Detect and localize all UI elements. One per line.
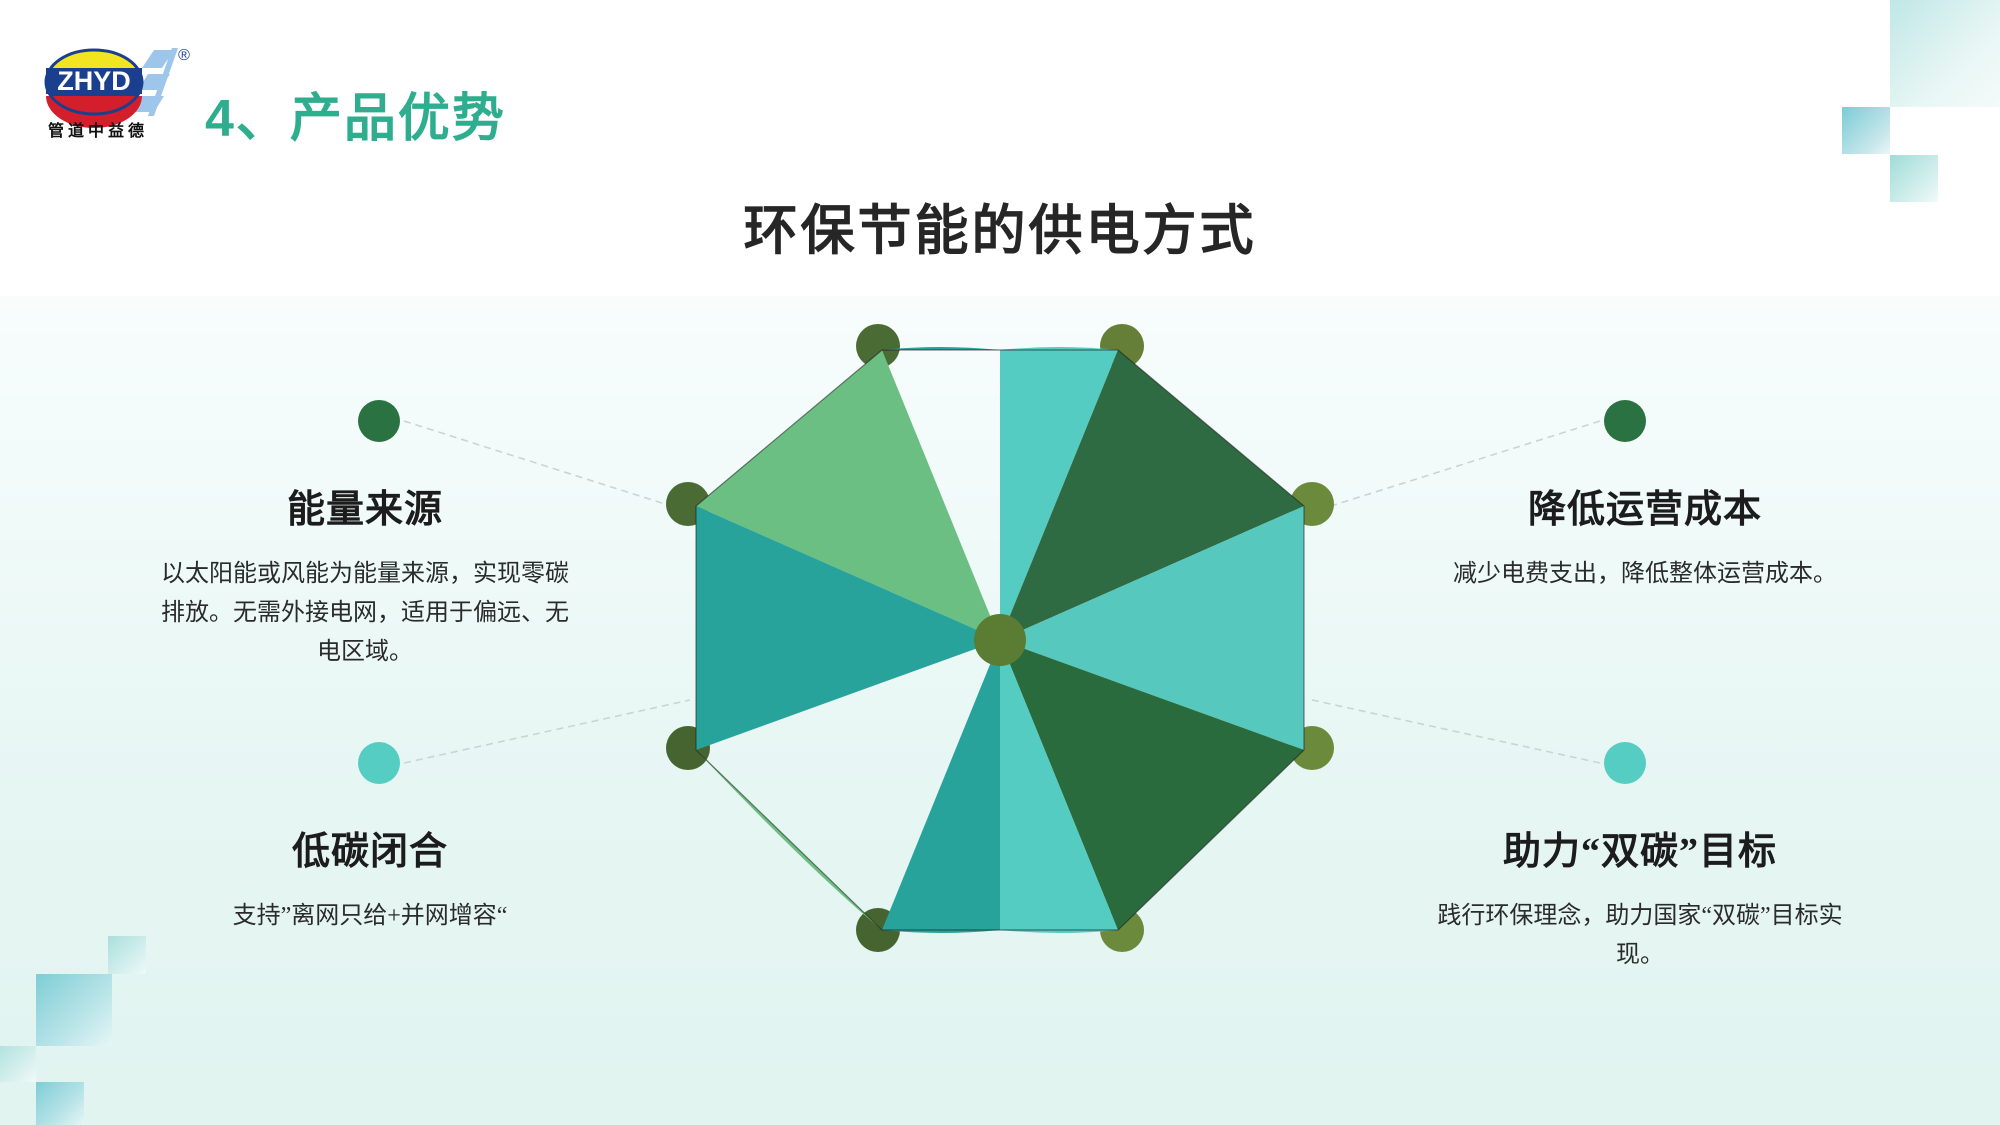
connector-dot-low-carbon[interactable] — [358, 742, 400, 784]
feature-body-reduce-cost: 减少电费支出，降低整体运营成本。 — [1430, 555, 1860, 594]
decorative-square-top-right-mid — [1842, 107, 1890, 154]
connector-dot-energy-source[interactable] — [358, 400, 400, 442]
feature-block-low-carbon: 低碳闭合 支持”离网只给+并网增容“ — [170, 820, 570, 936]
decorative-square-bottom-left-small — [108, 936, 146, 974]
feature-body-dual-carbon: 践行环保理念，助力国家“双碳”目标实现。 — [1420, 897, 1860, 975]
feature-title-dual-carbon: 助力“双碳”目标 — [1420, 820, 1860, 875]
umbrella-center-hub — [974, 614, 1026, 666]
svg-text:ZHYD: ZHYD — [57, 66, 131, 96]
decorative-square-bottom-left-large — [36, 974, 112, 1046]
decorative-square-bottom-left-edge — [0, 1046, 36, 1082]
connector-dot-dual-carbon[interactable] — [1604, 742, 1646, 784]
feature-title-reduce-cost: 降低运营成本 — [1430, 478, 1860, 533]
feature-block-dual-carbon: 助力“双碳”目标 践行环保理念，助力国家“双碳”目标实现。 — [1420, 820, 1860, 975]
slide-root: ZHYD ® 管道中益德 4、产品优势 环保节能的供电方式 — [0, 0, 2000, 1125]
feature-body-low-carbon: 支持”离网只给+并网增容“ — [170, 897, 570, 936]
decorative-square-bottom-left-lower — [36, 1082, 84, 1125]
company-logo: ZHYD ® 管道中益德 — [42, 38, 202, 148]
svg-text:®: ® — [178, 47, 190, 64]
feature-body-energy-source: 以太阳能或风能为能量来源，实现零碳排放。无需外接电网，适用于偏远、无电区域。 — [150, 555, 580, 672]
umbrella-diagram — [660, 310, 1340, 990]
feature-block-reduce-cost: 降低运营成本 减少电费支出，降低整体运营成本。 — [1430, 478, 1860, 594]
section-heading: 4、产品优势 — [205, 76, 506, 151]
feature-block-energy-source: 能量来源 以太阳能或风能为能量来源，实现零碳排放。无需外接电网，适用于偏远、无电… — [150, 478, 580, 672]
logo-icon: ZHYD ® 管道中益德 — [42, 38, 202, 148]
connector-dot-reduce-cost[interactable] — [1604, 400, 1646, 442]
decorative-square-top-right-large — [1890, 0, 2000, 107]
svg-text:管道中益德: 管道中益德 — [48, 121, 148, 140]
feature-title-energy-source: 能量来源 — [150, 478, 580, 533]
page-title: 环保节能的供电方式 — [0, 186, 2000, 265]
feature-title-low-carbon: 低碳闭合 — [170, 820, 570, 875]
